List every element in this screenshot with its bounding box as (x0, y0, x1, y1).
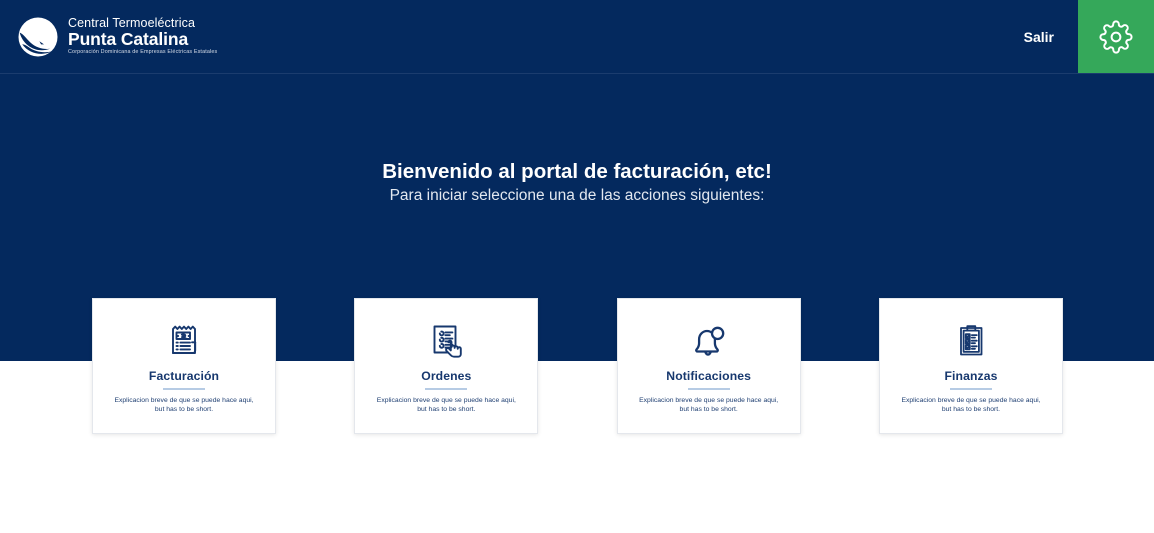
app-header: Central Termoeléctrica Punta Catalina Co… (0, 0, 1154, 74)
header-actions: Salir (1000, 0, 1154, 73)
action-card-ordenes[interactable]: Ordenes Explicacion breve de que se pued… (354, 298, 538, 434)
brand-line-central-termoelectrica: Central Termoeléctrica (68, 17, 217, 30)
action-card-notificaciones[interactable]: Notificaciones Explicacion breve de que … (617, 298, 801, 434)
card-divider (425, 388, 467, 390)
card-title: Facturación (149, 369, 219, 383)
card-description: Explicacion breve de que se puede hace a… (896, 396, 1046, 415)
checklist-hand-click-icon (423, 319, 469, 363)
brand-logo[interactable]: Central Termoeléctrica Punta Catalina Co… (0, 0, 217, 73)
action-card-facturacion[interactable]: Facturación Explicacion breve de que se … (92, 298, 276, 434)
card-divider (950, 388, 992, 390)
brand-text-block: Central Termoeléctrica Punta Catalina Co… (68, 17, 217, 55)
page-subtitle: Para iniciar seleccione una de las accio… (0, 187, 1154, 205)
card-divider (688, 388, 730, 390)
gear-icon (1099, 20, 1133, 54)
brand-line-punta-catalina: Punta Catalina (68, 31, 217, 49)
punta-catalina-swoosh-logo-icon (17, 16, 59, 58)
card-description: Explicacion breve de que se puede hace a… (371, 396, 521, 415)
clipboard-checklist-icon (948, 319, 994, 363)
page-title: Bienvenido al portal de facturación, etc… (0, 160, 1154, 184)
card-description: Explicacion breve de que se puede hace a… (634, 396, 784, 415)
action-card-finanzas[interactable]: Finanzas Explicacion breve de que se pue… (879, 298, 1063, 434)
bell-notification-icon (685, 319, 733, 363)
settings-button[interactable] (1078, 0, 1154, 73)
card-title: Notificaciones (666, 369, 751, 383)
logout-link[interactable]: Salir (1000, 0, 1078, 73)
hero-text-block: Bienvenido al portal de facturación, etc… (0, 160, 1154, 205)
action-card-grid: Facturación Explicacion breve de que se … (92, 298, 1063, 434)
card-title: Ordenes (421, 369, 471, 383)
brand-line-tagline: Corporación Dominicana de Empresas Eléct… (68, 50, 217, 55)
card-title: Finanzas (945, 369, 998, 383)
card-divider (163, 388, 205, 390)
card-description: Explicacion breve de que se puede hace a… (109, 396, 259, 415)
invoice-dollar-icon (161, 319, 207, 363)
